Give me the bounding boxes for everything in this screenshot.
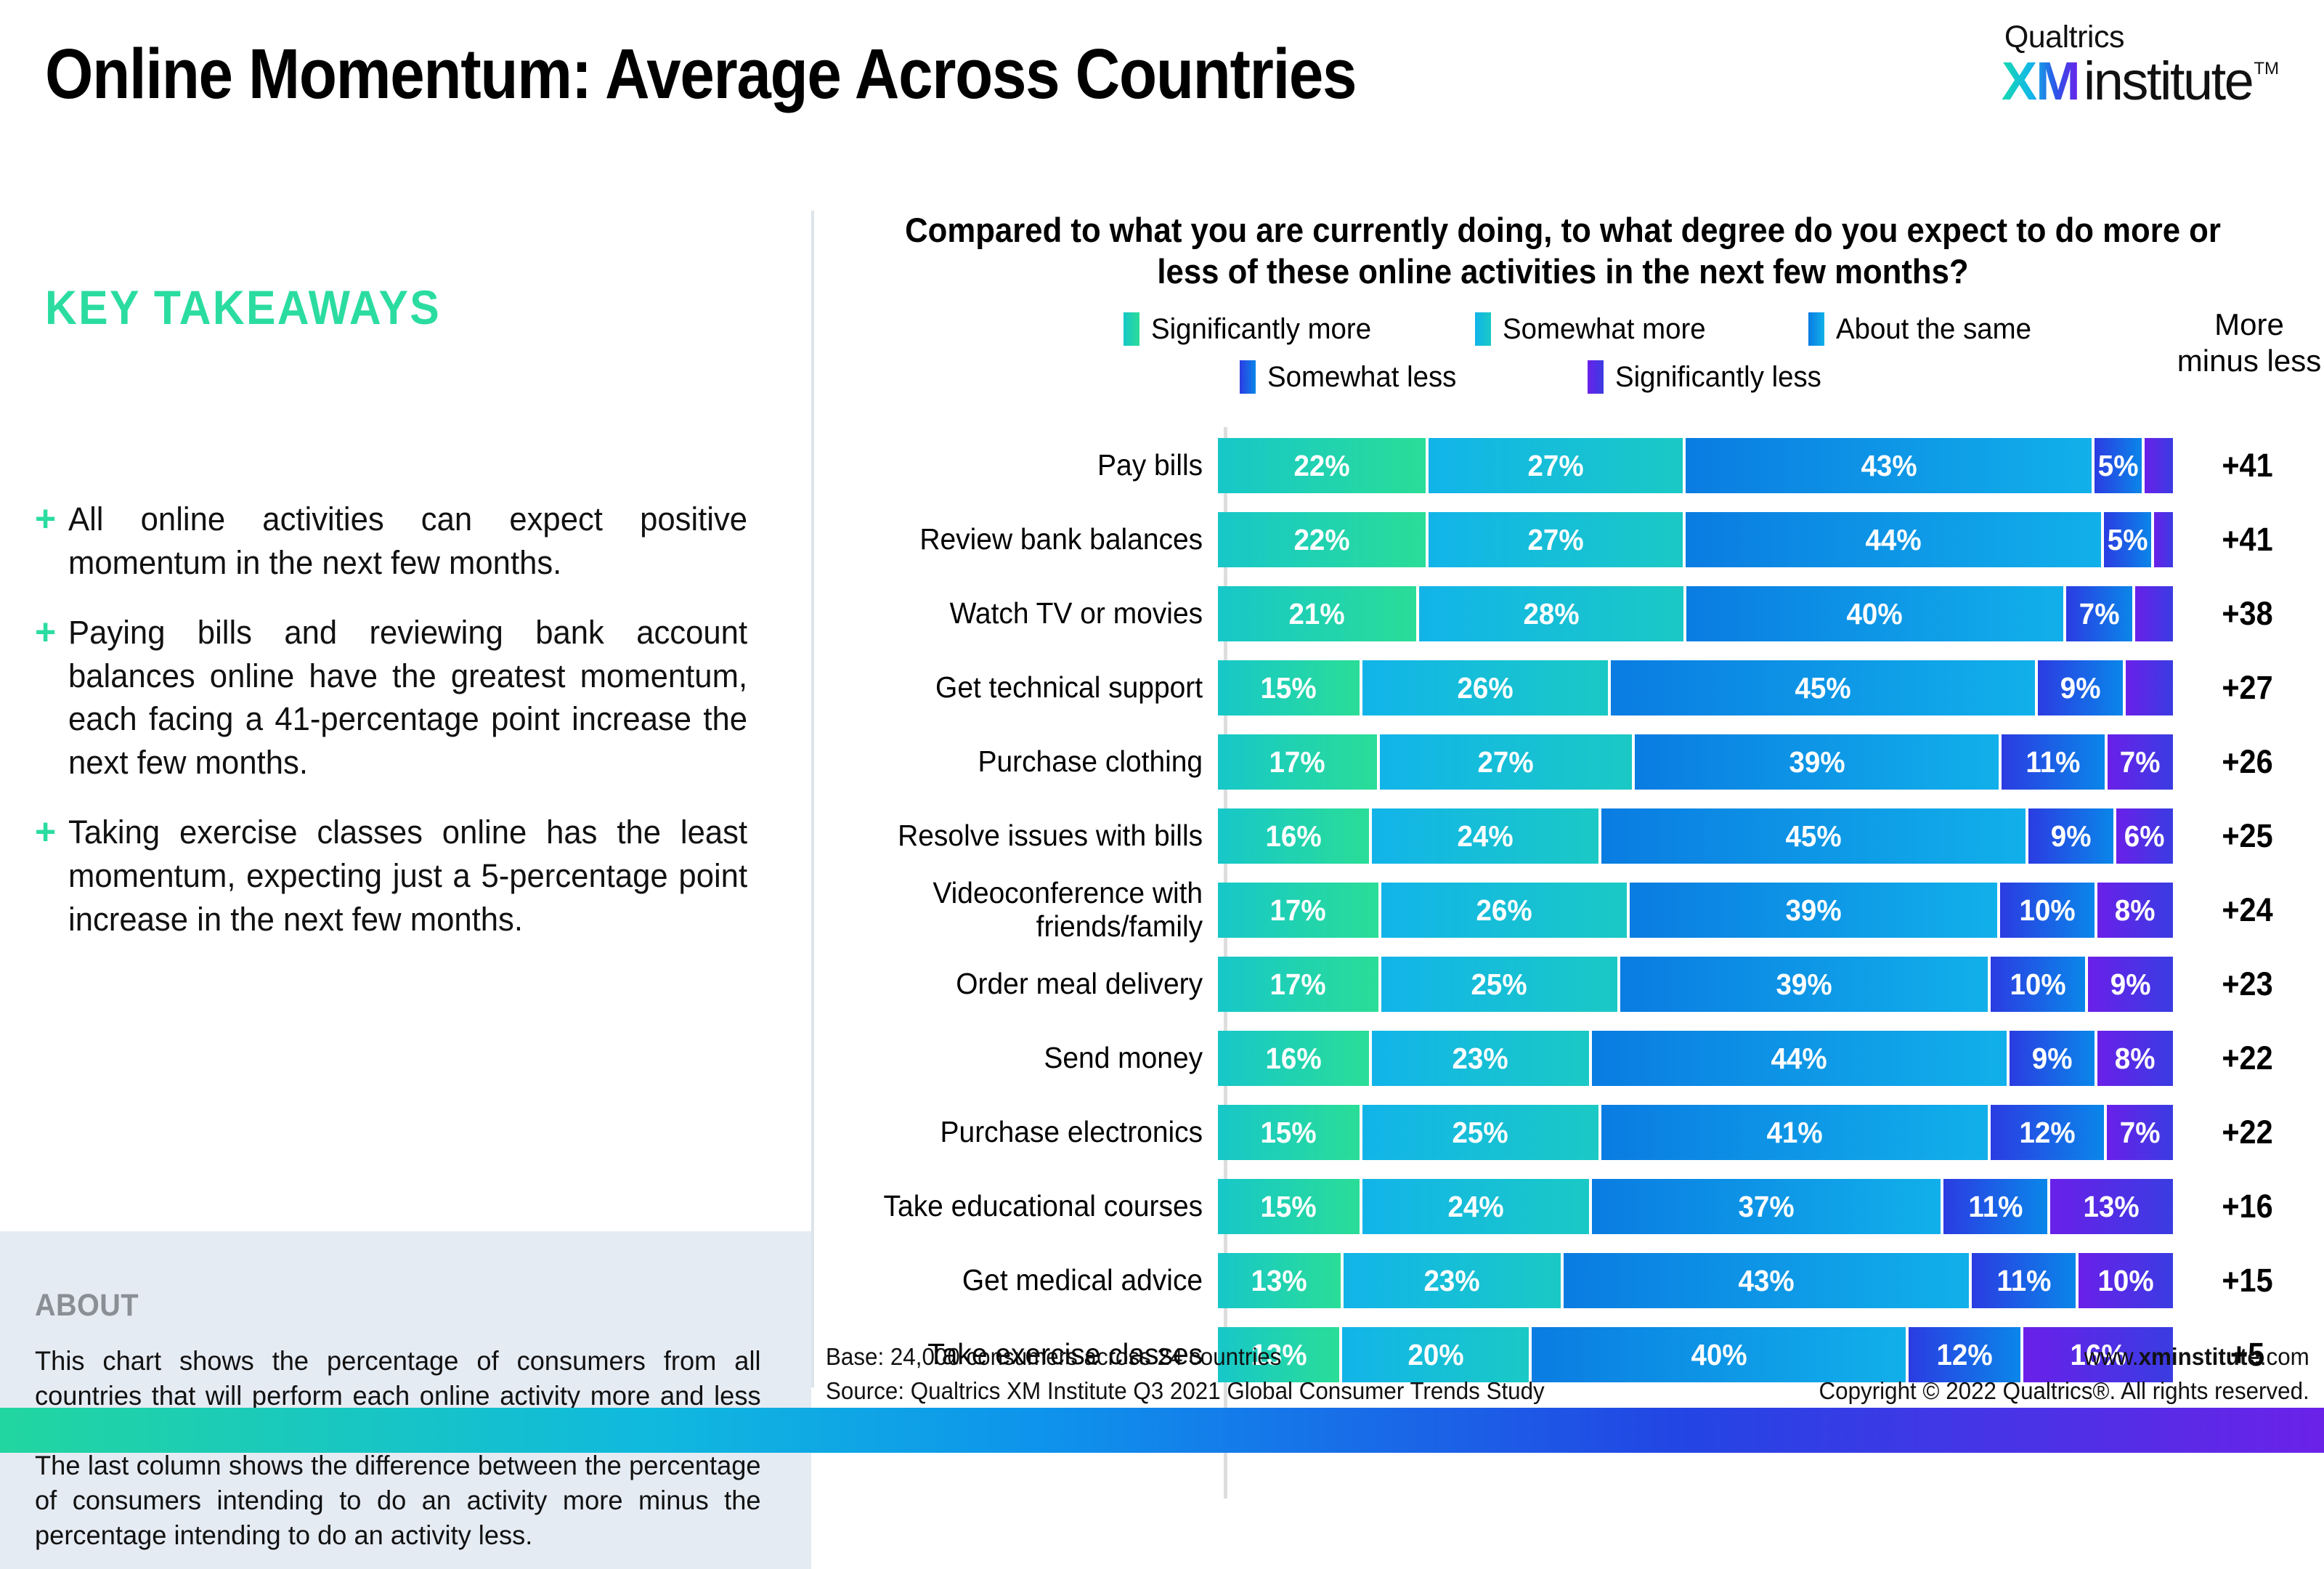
bar-segment-value: 13% (1251, 1264, 1307, 1298)
legend-swatch-icon (1124, 312, 1139, 346)
website-prefix: www. (2084, 1343, 2139, 1370)
bar-segment-0: 15% (1218, 1179, 1360, 1234)
bar-segment-3: 11% (1972, 1253, 2076, 1308)
bar-segment-value: 16% (1265, 1042, 1321, 1076)
footer-source: Source: Qualtrics XM Institute Q3 2021 G… (826, 1374, 1545, 1408)
bar-segment-4 (2126, 660, 2173, 715)
stacked-bar: 22%27%44%5% (1218, 512, 2173, 567)
row-delta-value: +16 (2179, 1188, 2316, 1225)
bar-segment-3: 9% (2028, 808, 2113, 864)
bar-segment-4: 7% (2108, 734, 2173, 790)
bar-segment-0: 13% (1218, 1253, 1341, 1308)
takeaway-text: Taking exercise classes online has the l… (68, 811, 747, 941)
bar-segment-3: 10% (2000, 883, 2095, 938)
page-title: Online Momentum: Average Across Countrie… (45, 33, 1356, 115)
bar-segment-value: 13% (2084, 1190, 2140, 1224)
stacked-bar: 15%26%45%9% (1218, 660, 2173, 715)
website-name: xminstitute (2139, 1343, 2260, 1370)
bar-segment-1: 27% (1429, 438, 1683, 493)
chart-row: Purchase electronics15%25%41%12%7%+22 (811, 1098, 2324, 1167)
bar-segment-1: 28% (1419, 586, 1683, 641)
bar-segment-value: 23% (1424, 1264, 1480, 1298)
chart-row: Resolve issues with bills16%24%45%9%6%+2… (811, 801, 2324, 871)
bar-segment-value: 26% (1457, 671, 1513, 705)
chart-rows: Pay bills22%27%43%5%+41Review bank balan… (811, 431, 2324, 1394)
footer-website[interactable]: www.xminstitute.com (1819, 1340, 2309, 1374)
chart-row: Review bank balances22%27%44%5%+41 (811, 505, 2324, 575)
bar-segment-value: 8% (2115, 893, 2156, 928)
bar-segment-value: 23% (1452, 1042, 1508, 1076)
bar-segment-3: 7% (2066, 586, 2132, 641)
plus-icon: + (35, 614, 68, 784)
bar-segment-1: 26% (1381, 883, 1627, 938)
row-label: Take educational courses (832, 1190, 1218, 1223)
chart-row: Pay bills22%27%43%5%+41 (811, 431, 2324, 500)
bar-segment-value: 7% (2079, 597, 2120, 631)
list-item: + Paying bills and reviewing bank accoun… (35, 611, 768, 784)
bar-segment-value: 37% (1738, 1190, 1794, 1224)
legend-item-significantly-less: Significantly less (1588, 360, 1830, 394)
bar-segment-value: 39% (1776, 968, 1832, 1002)
bar-segment-4: 10% (2079, 1253, 2173, 1308)
row-label: Get medical advice (832, 1264, 1218, 1297)
row-label: Send money (832, 1042, 1218, 1075)
xm-institute-logo: Qualtrics XM institute TM (2002, 22, 2279, 108)
bar-segment-4 (2135, 586, 2173, 641)
bar-segment-2: 43% (1686, 438, 2092, 493)
key-takeaways-list: + All online activities can expect posit… (35, 498, 768, 968)
legend-label: Somewhat less (1267, 361, 1456, 394)
legend-item-about-the-same: About the same (1808, 312, 2039, 346)
bar-segment-value: 5% (2108, 523, 2148, 557)
row-label: Pay bills (832, 449, 1218, 482)
bar-segment-0: 16% (1218, 808, 1369, 864)
bar-segment-value: 15% (1261, 1190, 1317, 1224)
bar-segment-2: 44% (1592, 1031, 2007, 1086)
row-delta-value: +24 (2179, 891, 2316, 929)
bar-segment-2: 40% (1686, 586, 2064, 641)
bar-segment-value: 27% (1528, 523, 1584, 557)
row-delta-value: +25 (2179, 817, 2316, 855)
legend-item-somewhat-less: Somewhat less (1240, 360, 1464, 394)
bar-segment-value: 9% (2051, 819, 2092, 854)
chart-question-title: Compared to what you are currently doing… (884, 209, 2241, 293)
list-item: + All online activities can expect posit… (35, 498, 768, 585)
bar-segment-value: 9% (2110, 968, 2151, 1002)
row-delta-value: +38 (2179, 595, 2316, 633)
bar-segment-0: 22% (1218, 512, 1426, 567)
bar-segment-value: 41% (1766, 1116, 1822, 1150)
row-label: Watch TV or movies (832, 597, 1218, 631)
bar-segment-value: 27% (1478, 745, 1534, 779)
bar-segment-value: 28% (1523, 597, 1579, 631)
chart-row: Get technical support15%26%45%9%+27 (811, 653, 2324, 723)
bar-segment-4: 7% (2107, 1105, 2173, 1160)
bar-segment-0: 15% (1218, 660, 1360, 715)
bar-segment-0: 15% (1218, 1105, 1360, 1160)
chart-row: Send money16%23%44%9%8%+22 (811, 1023, 2324, 1093)
bar-segment-1: 24% (1372, 808, 1598, 864)
stacked-bar: 16%24%45%9%6% (1218, 808, 2173, 864)
bar-segment-value: 27% (1528, 449, 1584, 483)
bottom-gradient-bar (0, 1408, 2324, 1453)
logo-xm-text: XM (2002, 54, 2079, 108)
bar-segment-3: 10% (1991, 957, 2085, 1012)
stacked-bar: 16%23%44%9%8% (1218, 1031, 2173, 1086)
row-label-line-1: Videoconference with (832, 877, 1203, 910)
bar-segment-3: 9% (2010, 1031, 2095, 1086)
bar-segment-value: 24% (1457, 819, 1513, 854)
chart-row: Take educational courses15%24%37%11%13%+… (811, 1172, 2324, 1241)
bar-segment-0: 17% (1218, 957, 1378, 1012)
bar-segment-value: 17% (1270, 893, 1326, 928)
bar-segment-1: 25% (1362, 1105, 1598, 1160)
stacked-bar: 22%27%43%5% (1218, 438, 2173, 493)
bar-segment-value: 10% (2097, 1264, 2153, 1298)
bar-segment-1: 27% (1380, 734, 1632, 790)
row-label: Review bank balances (832, 523, 1218, 556)
stacked-bar: 17%25%39%10%9% (1218, 957, 2173, 1012)
delta-header-line-2: minus less (2177, 343, 2322, 379)
legend-item-significantly-more: Significantly more (1124, 312, 1381, 346)
bar-segment-3: 9% (2038, 660, 2123, 715)
bar-segment-value: 10% (2020, 893, 2076, 928)
bar-segment-2: 41% (1601, 1105, 1988, 1160)
legend-swatch-icon (1475, 312, 1491, 346)
page-header: Online Momentum: Average Across Countrie… (0, 0, 2324, 167)
row-delta-value: +22 (2179, 1114, 2316, 1151)
legend-swatch-icon (1240, 360, 1256, 394)
bar-segment-value: 44% (1771, 1042, 1827, 1076)
bar-segment-value: 6% (2124, 819, 2165, 854)
row-label: Videoconference withfriends/family (832, 877, 1218, 944)
row-delta-value: +41 (2179, 447, 2316, 485)
bar-segment-0: 21% (1218, 586, 1416, 641)
bar-segment-2: 43% (1564, 1253, 1970, 1308)
bar-segment-2: 39% (1635, 734, 1999, 790)
bar-segment-value: 15% (1261, 1116, 1317, 1150)
bar-segment-value: 24% (1447, 1190, 1503, 1224)
stacked-bar: 17%27%39%11%7% (1218, 734, 2173, 790)
bar-segment-4: 13% (2050, 1179, 2173, 1234)
bar-segment-4: 9% (2088, 957, 2173, 1012)
delta-header-line-1: More (2177, 307, 2322, 343)
legend-label: Somewhat more (1503, 313, 1706, 346)
row-delta-value: +41 (2179, 521, 2316, 559)
row-delta-value: +22 (2179, 1039, 2316, 1077)
stacked-bar: 15%24%37%11%13% (1218, 1179, 2173, 1234)
page-footer: Base: 24,000 consumers across 24 countri… (811, 1340, 2324, 1406)
legend-label: About the same (1836, 313, 2031, 346)
bar-segment-1: 25% (1381, 957, 1617, 1012)
stacked-bar: 17%26%39%10%8% (1218, 883, 2173, 938)
bar-segment-2: 37% (1592, 1179, 1941, 1234)
bar-segment-2: 45% (1601, 808, 2026, 864)
delta-column-header: More minus less (2177, 307, 2322, 378)
bar-segment-4: 8% (2097, 883, 2173, 938)
row-delta-value: +26 (2179, 743, 2316, 781)
bar-segment-3: 5% (2104, 512, 2151, 567)
bar-segment-value: 17% (1269, 745, 1325, 779)
bar-segment-value: 43% (1861, 449, 1917, 483)
bar-segment-value: 11% (2026, 745, 2081, 779)
chart-panel: Compared to what you are currently doing… (811, 167, 2324, 1402)
logo-institute-text: institute (2084, 54, 2253, 108)
bar-segment-3: 12% (1991, 1105, 2104, 1160)
bar-segment-4: 6% (2116, 808, 2173, 864)
bar-segment-value: 26% (1476, 893, 1532, 928)
takeaway-text: Paying bills and reviewing bank account … (68, 611, 747, 784)
bar-segment-2: 44% (1686, 512, 2101, 567)
stacked-bar: 15%25%41%12%7% (1218, 1105, 2173, 1160)
row-delta-value: +27 (2179, 669, 2316, 707)
bar-segment-1: 27% (1429, 512, 1683, 567)
bar-segment-4: 8% (2097, 1031, 2173, 1086)
stacked-bar: 13%23%43%11%10% (1218, 1253, 2173, 1308)
footer-left-block: Base: 24,000 consumers across 24 countri… (826, 1340, 1545, 1408)
chart-legend: Significantly more Somewhat more About t… (811, 312, 2213, 403)
bar-segment-value: 9% (2032, 1042, 2073, 1076)
stacked-bar: 21%28%40%7% (1218, 586, 2173, 641)
bar-segment-value: 15% (1261, 671, 1317, 705)
chart-row: Videoconference withfriends/family17%26%… (811, 875, 2324, 945)
legend-item-somewhat-more: Somewhat more (1475, 312, 1714, 346)
bar-segment-value: 40% (1847, 597, 1903, 631)
trademark-icon: TM (2254, 59, 2279, 79)
legend-swatch-icon (1808, 312, 1824, 346)
bar-segment-3: 11% (1943, 1179, 2047, 1234)
bar-segment-3: 11% (2002, 734, 2104, 790)
bar-segment-value: 12% (2020, 1116, 2076, 1150)
bar-segment-value: 5% (2098, 449, 2139, 483)
chart-row: Watch TV or movies21%28%40%7%+38 (811, 579, 2324, 649)
takeaway-text: All online activities can expect positiv… (68, 498, 747, 585)
bar-segment-3: 5% (2095, 438, 2142, 493)
bar-segment-value: 7% (2120, 745, 2161, 779)
bar-segment-value: 39% (1785, 893, 1841, 928)
bar-segment-value: 43% (1738, 1264, 1794, 1298)
bar-segment-4 (2154, 512, 2173, 567)
website-suffix: .com (2260, 1343, 2309, 1370)
bar-segment-2: 39% (1620, 957, 1988, 1012)
row-label: Order meal delivery (832, 968, 1218, 1001)
row-label: Resolve issues with bills (832, 819, 1218, 853)
bar-segment-4 (2145, 438, 2173, 493)
bar-segment-1: 23% (1372, 1031, 1589, 1086)
chart-row: Get medical advice13%23%43%11%10%+15 (811, 1246, 2324, 1315)
row-delta-value: +23 (2179, 965, 2316, 1003)
bar-segment-value: 45% (1785, 819, 1841, 854)
row-label: Purchase clothing (832, 745, 1218, 779)
legend-swatch-icon (1588, 360, 1604, 394)
bar-segment-value: 39% (1789, 745, 1845, 779)
row-delta-value: +15 (2179, 1262, 2316, 1300)
bar-segment-value: 22% (1293, 449, 1349, 483)
bar-segment-2: 45% (1611, 660, 2036, 715)
bar-segment-value: 22% (1293, 523, 1349, 557)
bar-segment-value: 11% (1968, 1190, 2023, 1224)
bar-segment-1: 23% (1344, 1253, 1561, 1308)
bar-segment-value: 21% (1289, 597, 1345, 631)
bar-segment-value: 17% (1270, 968, 1326, 1002)
bar-segment-value: 16% (1265, 819, 1321, 854)
left-panel: KEY TAKEAWAYS + All online activities ca… (0, 167, 811, 1402)
bar-segment-value: 45% (1795, 671, 1850, 705)
footer-base: Base: 24,000 consumers across 24 countri… (826, 1340, 1545, 1374)
about-panel: ABOUT This chart shows the percentage of… (0, 1231, 811, 1569)
bar-segment-value: 11% (1996, 1264, 2051, 1298)
legend-label: Significantly less (1615, 361, 1821, 394)
bar-segment-value: 7% (2120, 1116, 2161, 1150)
bar-segment-2: 39% (1630, 883, 1998, 938)
row-label: Purchase electronics (832, 1116, 1218, 1149)
list-item: + Taking exercise classes online has the… (35, 811, 768, 941)
bar-segment-value: 10% (2010, 968, 2066, 1002)
bar-segment-0: 17% (1218, 734, 1377, 790)
bar-segment-value: 44% (1866, 523, 1922, 557)
footer-copyright: Copyright © 2022 Qualtrics®. All rights … (1819, 1374, 2309, 1408)
plus-icon: + (35, 814, 68, 941)
bar-segment-value: 9% (2060, 671, 2101, 705)
key-takeaways-heading: KEY TAKEAWAYS (45, 280, 441, 335)
legend-label: Significantly more (1151, 313, 1371, 346)
bar-segment-1: 24% (1362, 1179, 1589, 1234)
logo-brand-text: Qualtrics (2004, 22, 2279, 53)
bar-segment-value: 8% (2115, 1042, 2156, 1076)
bar-segment-0: 16% (1218, 1031, 1369, 1086)
chart-row: Purchase clothing17%27%39%11%7%+26 (811, 727, 2324, 797)
row-label: Get technical support (832, 671, 1218, 705)
bar-segment-value: 25% (1452, 1116, 1508, 1150)
plus-icon: + (35, 500, 68, 585)
bar-segment-1: 26% (1362, 660, 1608, 715)
bar-segment-value: 25% (1471, 968, 1527, 1002)
bar-segment-0: 17% (1218, 883, 1378, 938)
bar-segment-0: 22% (1218, 438, 1426, 493)
row-label-line-2: friends/family (832, 910, 1203, 944)
about-heading: ABOUT (35, 1288, 139, 1323)
footer-right-block: www.xminstitute.com Copyright © 2022 Qua… (1819, 1340, 2309, 1408)
chart-row: Order meal delivery17%25%39%10%9%+23 (811, 949, 2324, 1019)
